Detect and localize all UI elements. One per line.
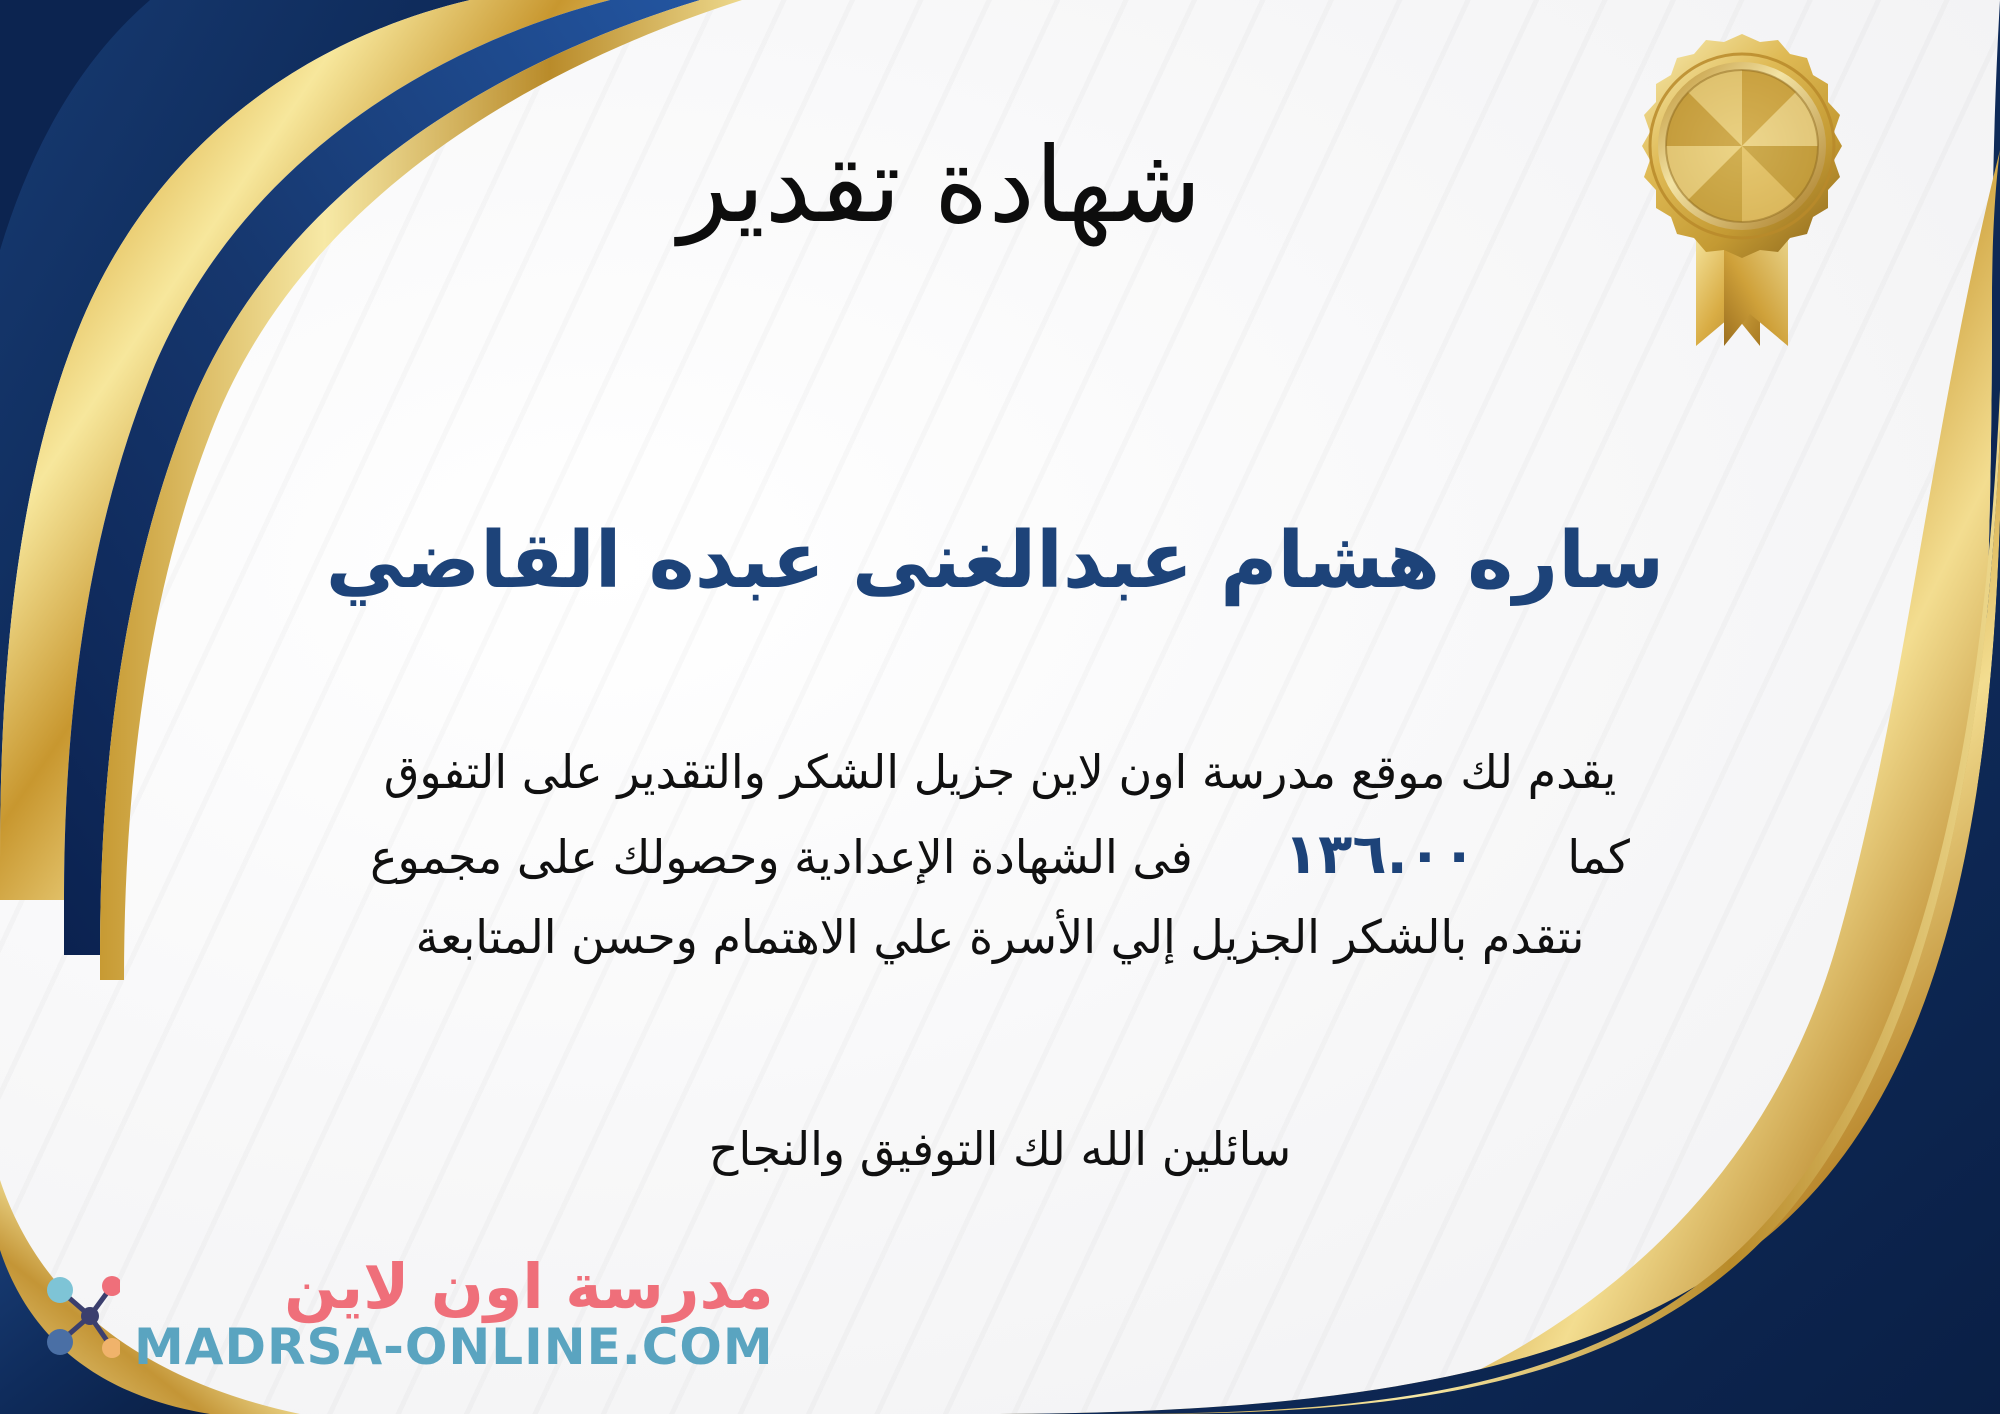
certificate-body: يقدم لك موقع مدرسة اون لاين جزيل الشكر و… — [80, 735, 1920, 975]
recipient-name: ساره هشام عبدالغنى عبده القاضي — [120, 515, 1870, 607]
body-line-2-right: فى الشهادة الإعدادية وحصولك على مجموع — [370, 830, 1193, 884]
brand-logo[interactable]: مدرسة اون لاين MADRSA-ONLINE.COM — [34, 1256, 774, 1372]
gold-award-rosette-icon — [1592, 28, 1892, 358]
body-line-3: نتقدم بالشكر الجزيل إلي الأسرة علي الاهت… — [80, 900, 1920, 975]
brand-name-arabic: مدرسة اون لاين — [284, 1256, 774, 1318]
brand-domain: MADRSA-ONLINE.COM — [134, 1322, 774, 1372]
body-line-2: كما ١٣٦.٠٠ فى الشهادة الإعدادية وحصولك ع… — [80, 810, 1920, 901]
network-nodes-icon — [34, 1264, 120, 1364]
grade-value: ١٣٦.٠٠ — [1258, 822, 1502, 887]
body-line-2-left: كما — [1567, 830, 1630, 884]
brand-text: مدرسة اون لاين MADRSA-ONLINE.COM — [134, 1256, 774, 1372]
body-line-1: يقدم لك موقع مدرسة اون لاين جزيل الشكر و… — [80, 735, 1920, 810]
certificate-page: شهادة تقدير ساره هشام عبدالغنى عبده القا… — [0, 0, 2000, 1414]
closing-line: سائلين الله لك التوفيق والنجاح — [80, 1115, 1920, 1184]
